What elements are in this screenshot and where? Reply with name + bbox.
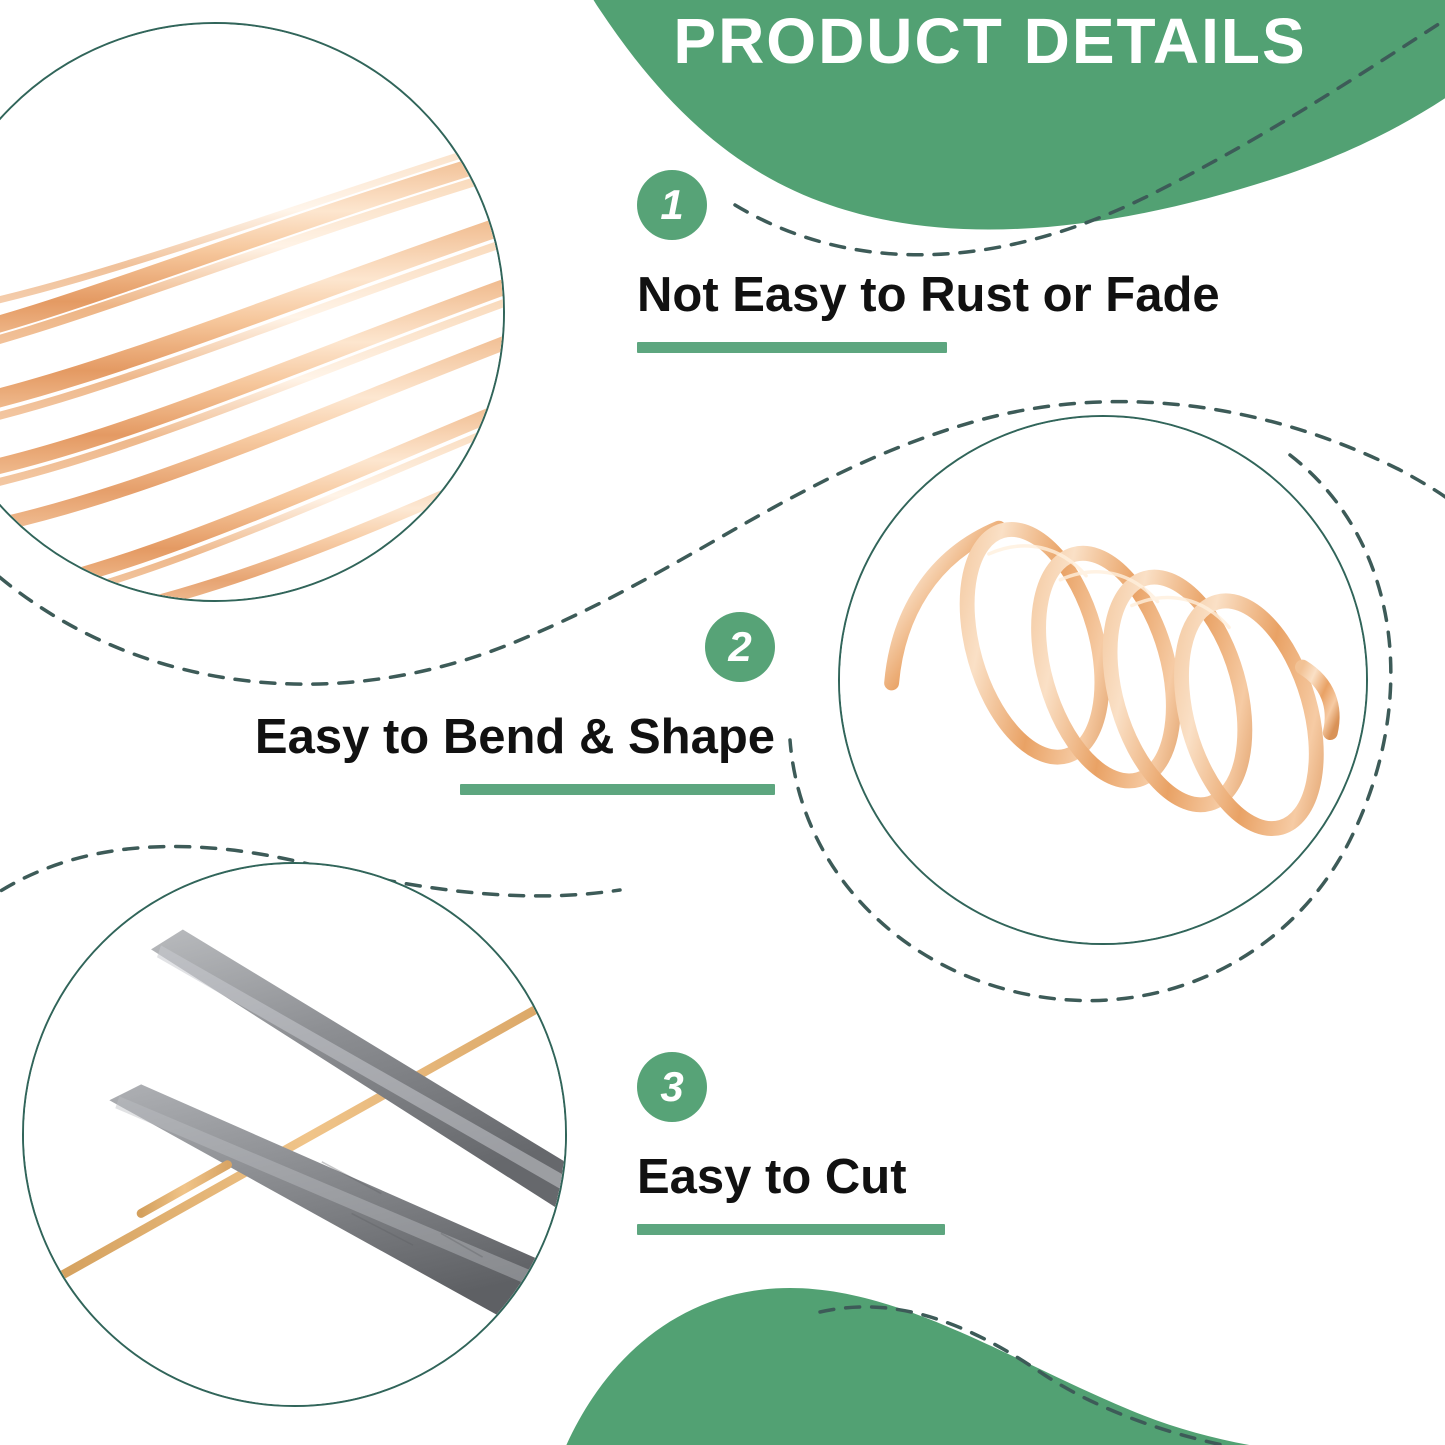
- feature-underline-3: [637, 1224, 945, 1235]
- feature-underline-1: [637, 342, 947, 353]
- feature-block-3: 3 Easy to Cut: [637, 1052, 945, 1235]
- feature-number-3: 3: [660, 1066, 683, 1108]
- feature-number-2: 2: [728, 626, 751, 668]
- footer-wave-shape: [560, 1288, 1445, 1445]
- scissors-cutting-wire-illustration: [24, 864, 565, 1405]
- feature-block-1: 1 Not Easy to Rust or Fade: [637, 170, 1220, 353]
- copper-wire-bundle-photo: [0, 22, 505, 602]
- feature-title-3: Easy to Cut: [637, 1152, 945, 1203]
- dashed-curve-footer: [820, 1307, 1445, 1445]
- feature-underline-2: [460, 784, 775, 795]
- product-details-infographic: PRODUCT DETAILS: [0, 0, 1445, 1445]
- scissors-cutting-wire-photo: [22, 862, 567, 1407]
- feature-number-1: 1: [660, 184, 683, 226]
- feature-title-2: Easy to Bend & Shape: [250, 712, 775, 763]
- feature-title-1: Not Easy to Rust or Fade: [637, 270, 1220, 321]
- feature-number-badge-2: 2: [705, 612, 775, 682]
- feature-number-badge-1: 1: [637, 170, 707, 240]
- page-title: PRODUCT DETAILS: [620, 8, 1360, 75]
- feature-number-badge-3: 3: [637, 1052, 707, 1122]
- copper-spiral-coil-photo: [838, 415, 1368, 945]
- copper-wire-bundle-illustration: [0, 24, 503, 600]
- copper-spiral-coil-illustration: [840, 417, 1366, 943]
- feature-block-2: 2 Easy to Bend & Shape: [250, 612, 775, 795]
